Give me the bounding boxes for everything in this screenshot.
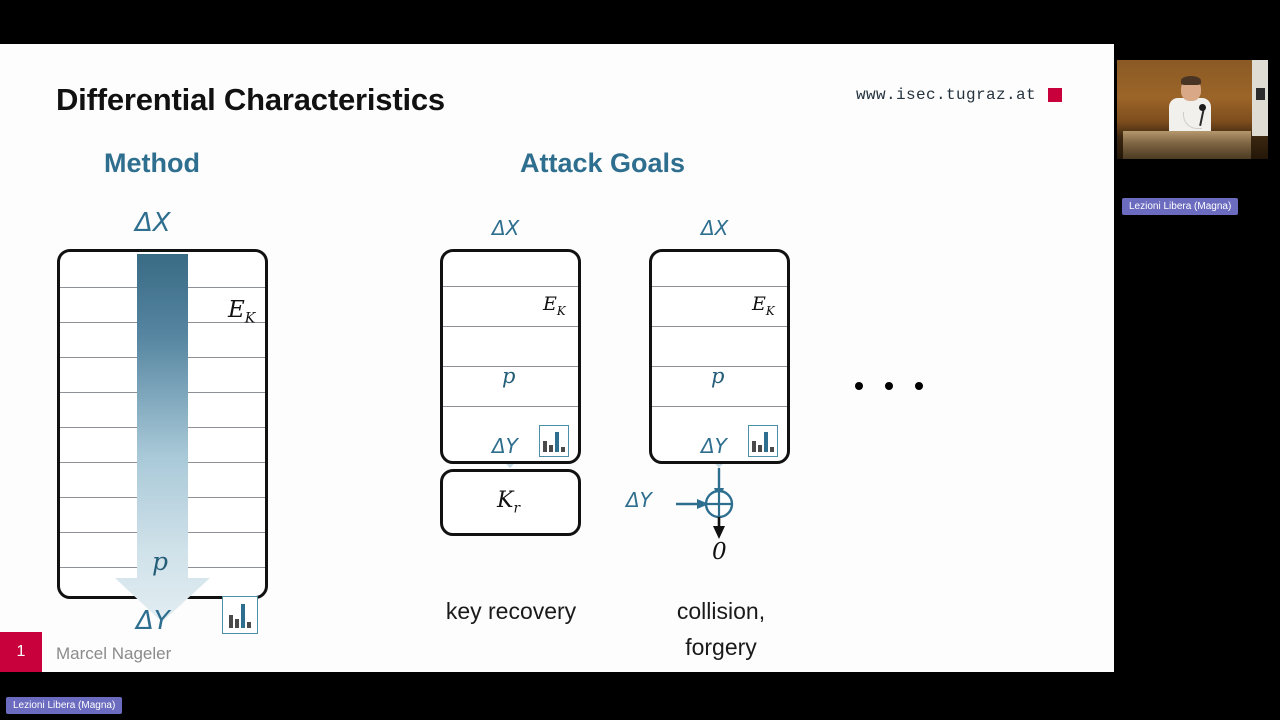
ellipsis-dot xyxy=(915,382,923,390)
key-recovery-probability-label: p xyxy=(502,364,515,388)
ellipsis-dot xyxy=(885,382,893,390)
screen: Differential Characteristics www.isec.tu… xyxy=(0,0,1280,720)
key-recovery-input-delta-label: ΔX xyxy=(492,216,519,240)
collision-cipher-label: EK xyxy=(752,293,775,318)
round-key-label: Kr xyxy=(497,488,520,516)
speaker-hair xyxy=(1181,76,1201,85)
collision-result-label: 0 xyxy=(712,539,727,565)
section-heading-attack-goals: Attack Goals xyxy=(520,148,685,179)
collision-probability-label: p xyxy=(711,364,724,388)
section-heading-method: Method xyxy=(104,148,200,179)
ellipsis-dot xyxy=(855,382,863,390)
key-recovery-cipher-label: EK xyxy=(543,293,566,318)
key-recovery-caption: key recovery xyxy=(400,594,622,630)
collision-output-delta-label: ΔY xyxy=(701,434,727,458)
institute-url: www.isec.tugraz.at xyxy=(856,86,1036,104)
method-cipher-label: EK xyxy=(228,297,255,327)
xor-input-delta-label: ΔY xyxy=(626,488,652,512)
method-output-delta-label: ΔY xyxy=(136,606,170,636)
institute-url-block: www.isec.tugraz.at xyxy=(856,86,1062,104)
speaker-video-tile[interactable] xyxy=(1117,60,1268,159)
overlay-participant-name-tag: Lezioni Libera (Magna) xyxy=(6,697,122,714)
brand-square-icon xyxy=(1048,88,1062,102)
screen-dark-patch xyxy=(1256,88,1265,100)
collision-input-delta-label: ΔX xyxy=(701,216,728,240)
method-input-delta-label: ΔX xyxy=(135,208,171,238)
collision-caption: collision, forgery xyxy=(610,594,832,665)
ellipsis-icon xyxy=(855,382,923,390)
method-probability-label: p xyxy=(152,547,168,576)
key-recovery-output-delta-label: ΔY xyxy=(492,434,518,458)
microphone-icon xyxy=(1199,104,1206,111)
page-title: Differential Characteristics xyxy=(56,82,445,118)
video-participant-name-tag: Lezioni Libera (Magna) xyxy=(1122,198,1238,215)
method-bar-chart-icon xyxy=(222,596,258,634)
key-recovery-bar-chart-icon xyxy=(539,425,569,457)
author-name: Marcel Nageler xyxy=(56,644,171,664)
podium xyxy=(1123,131,1251,159)
page-number-badge: 1 xyxy=(0,632,42,672)
slide-canvas: Differential Characteristics www.isec.tu… xyxy=(0,44,1114,672)
collision-bar-chart-icon xyxy=(748,425,778,457)
xor-circle-icon xyxy=(706,491,732,517)
